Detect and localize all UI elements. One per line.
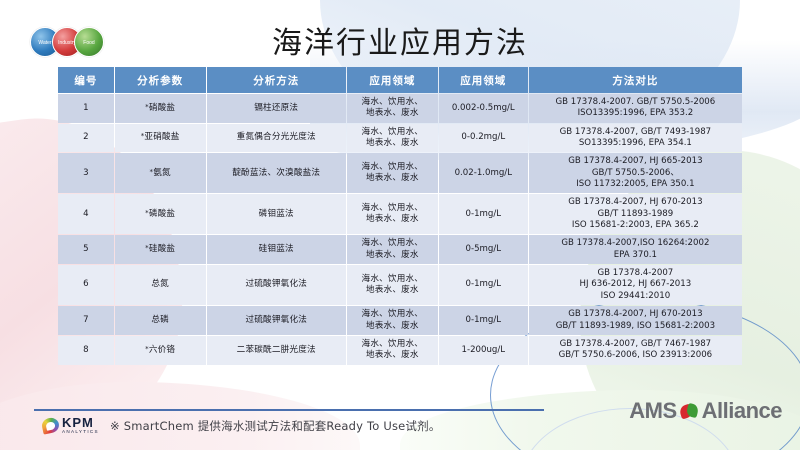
cell-refs: GB 17378.4-2007, GB/T 7493-1987SO13395:1…: [529, 124, 742, 153]
methods-table: 编号 分析参数 分析方法 应用领域 应用领域 方法对比 1*硝酸盐镉柱还原法海水…: [57, 66, 743, 366]
cell-field: 海水、饮用水、地表水、废水: [347, 235, 438, 264]
footer-divider: [34, 409, 544, 411]
cell-param: 总磷: [115, 306, 206, 335]
cell-no: 1: [58, 94, 114, 123]
table-row: 3*氨氮靛酚蓝法、次溴酸盐法海水、饮用水、地表水、废水0.02-1.0mg/LG…: [58, 153, 742, 193]
cell-no: 7: [58, 306, 114, 335]
asterisk-marker: *: [145, 209, 149, 217]
cell-field: 海水、饮用水、地表水、废水: [347, 336, 438, 365]
cell-param: *氨氮: [115, 153, 206, 193]
cell-field: 海水、饮用水、地表水、废水: [347, 194, 438, 234]
cell-param: *磷酸盐: [115, 194, 206, 234]
table-row: 4*磷酸盐磷钼蓝法海水、饮用水、地表水、废水0-1mg/LGB 17378.4-…: [58, 194, 742, 234]
cell-method: 镉柱还原法: [207, 94, 346, 123]
table-row: 7总磷过硫酸钾氧化法海水、饮用水、地表水、废水0-1mg/LGB 17378.4…: [58, 306, 742, 335]
cell-field: 海水、饮用水、地表水、废水: [347, 153, 438, 193]
cell-no: 2: [58, 124, 114, 153]
cell-range: 0-1mg/L: [439, 194, 528, 234]
cell-method: 硅钼蓝法: [207, 235, 346, 264]
cell-param: *硅酸盐: [115, 235, 206, 264]
table-header-row: 编号 分析参数 分析方法 应用领域 应用领域 方法对比: [58, 67, 742, 93]
table-row: 8*六价铬二苯碳酰二肼光度法海水、饮用水、地表水、废水1-200ug/LGB 1…: [58, 336, 742, 365]
table-row: 5*硅酸盐硅钼蓝法海水、饮用水、地表水、废水0-5mg/LGB 17378.4-…: [58, 235, 742, 264]
cell-method: 过硫酸钾氧化法: [207, 306, 346, 335]
cell-range: 0-0.2mg/L: [439, 124, 528, 153]
cell-refs: GB 17378.4-2007,ISO 16264:2002EPA 370.1: [529, 235, 742, 264]
cell-refs: GB 17378.4-2007. GB/T 5750.5-2006ISO1339…: [529, 94, 742, 123]
table-body: 1*硝酸盐镉柱还原法海水、饮用水、地表水、废水0.002-0.5mg/LGB 1…: [58, 94, 742, 365]
ams-leaf-icon: [680, 403, 699, 420]
ams-prefix-text: AMS: [629, 398, 676, 424]
table-header-no: 编号: [58, 67, 114, 93]
cell-range: 0.02-1.0mg/L: [439, 153, 528, 193]
asterisk-marker: *: [145, 244, 149, 252]
presentation-slide: Water Industry Food 海洋行业应用方法 编号 分析参数 分析方…: [0, 0, 800, 450]
cell-refs: GB 17378.4-2007, HJ 670-2013GB/T 11893-1…: [529, 194, 742, 234]
asterisk-marker: *: [141, 132, 145, 140]
cell-range: 0-5mg/L: [439, 235, 528, 264]
cell-field: 海水、饮用水、地表水、废水: [347, 306, 438, 335]
cell-method: 重氮偶合分光光度法: [207, 124, 346, 153]
cell-field: 海水、饮用水、地表水、废水: [347, 265, 438, 305]
cell-no: 8: [58, 336, 114, 365]
cell-refs: GB 17378.4-2007HJ 636-2012, HJ 667-2013I…: [529, 265, 742, 305]
table-row: 6总氮过硫酸钾氧化法海水、饮用水、地表水、废水0-1mg/LGB 17378.4…: [58, 265, 742, 305]
cell-field: 海水、饮用水、地表水、废水: [347, 94, 438, 123]
cell-param: 总氮: [115, 265, 206, 305]
cell-range: 1-200ug/L: [439, 336, 528, 365]
kpm-brand-sub: ANALYTICS: [62, 430, 99, 435]
cell-refs: GB 17378.4-2007, GB/T 7467-1987GB/T 5750…: [529, 336, 742, 365]
page-title: 海洋行业应用方法: [0, 18, 800, 62]
cell-method: 靛酚蓝法、次溴酸盐法: [207, 153, 346, 193]
cell-no: 6: [58, 265, 114, 305]
cell-range: 0.002-0.5mg/L: [439, 94, 528, 123]
table-header-param: 分析参数: [115, 67, 206, 93]
cell-no: 4: [58, 194, 114, 234]
table-header-range: 应用领域: [439, 67, 528, 93]
ams-suffix-text: Alliance: [702, 398, 782, 424]
kpm-brand-name: KPM: [62, 416, 99, 429]
table-row: 1*硝酸盐镉柱还原法海水、饮用水、地表水、废水0.002-0.5mg/LGB 1…: [58, 94, 742, 123]
asterisk-marker: *: [145, 345, 149, 353]
cell-method: 磷钼蓝法: [207, 194, 346, 234]
kpm-swirl-icon: [41, 416, 61, 434]
table-header-method: 分析方法: [207, 67, 346, 93]
cell-param: *亚硝酸盐: [115, 124, 206, 153]
table-header-refs: 方法对比: [529, 67, 742, 93]
cell-no: 3: [58, 153, 114, 193]
methods-table-wrapper: 编号 分析参数 分析方法 应用领域 应用领域 方法对比 1*硝酸盐镉柱还原法海水…: [57, 66, 743, 366]
cell-refs: GB 17378.4-2007, HJ 670-2013GB/T 11893-1…: [529, 306, 742, 335]
cell-param: *六价铬: [115, 336, 206, 365]
cell-refs: GB 17378.4-2007, HJ 665-2013GB/T 5750.5-…: [529, 153, 742, 193]
cell-no: 5: [58, 235, 114, 264]
cell-method: 二苯碳酰二肼光度法: [207, 336, 346, 365]
asterisk-marker: *: [145, 103, 149, 111]
table-header-field: 应用领域: [347, 67, 438, 93]
cell-field: 海水、饮用水、地表水、废水: [347, 124, 438, 153]
asterisk-marker: *: [150, 168, 154, 176]
cell-range: 0-1mg/L: [439, 265, 528, 305]
table-row: 2*亚硝酸盐重氮偶合分光光度法海水、饮用水、地表水、废水0-0.2mg/LGB …: [58, 124, 742, 153]
ams-alliance-logo: AMS Alliance: [629, 398, 782, 424]
footer-note: ※ SmartChem 提供海水测试方法和配套Ready To Use试剂。: [110, 418, 441, 434]
cell-param: *硝酸盐: [115, 94, 206, 123]
cell-range: 0-1mg/L: [439, 306, 528, 335]
kpm-analytics-logo: KPM ANALYTICS: [42, 416, 99, 435]
cell-method: 过硫酸钾氧化法: [207, 265, 346, 305]
